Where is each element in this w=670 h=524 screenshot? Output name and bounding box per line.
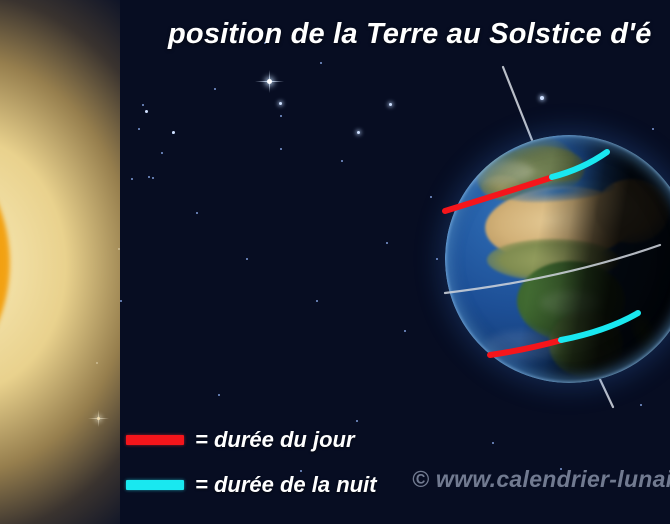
page-title: position de la Terre au Solstice d'é [168,18,670,51]
sun-halo [0,0,120,524]
bright-star-lower [96,416,101,421]
star [196,212,198,214]
star [386,242,388,244]
legend-swatch-night [126,480,184,490]
star [404,330,406,332]
star [172,131,175,134]
star [218,394,220,396]
southern-day-arc [490,340,562,355]
star [357,131,360,134]
star [279,102,282,105]
watermark-credit: © www.calendrier-lunai [412,466,670,493]
legend-item-day: = durée du jour [126,420,377,460]
bright-star [266,78,273,85]
legend-item-night: = durée de la nuit [126,465,377,505]
star [214,88,216,90]
star [96,362,98,364]
sun [0,0,120,524]
star [280,148,282,150]
legend-label-day: = durée du jour [195,427,355,453]
solar-diagram-scene: position de la Terre au Solstice d'é [0,0,670,524]
legend-label-night: = durée de la nuit [195,472,377,498]
star [145,110,148,113]
star [142,104,144,106]
star [161,152,163,154]
star [316,300,318,302]
southern-night-arc [561,313,638,340]
star [152,177,154,179]
northern-night-arc [552,152,607,177]
star [389,103,392,106]
star [320,62,322,64]
star-core [97,417,100,420]
star [280,115,282,117]
star [138,128,140,130]
star-core [267,79,272,84]
earth-overlay-lines [435,65,670,465]
star [118,248,120,250]
star [246,258,248,260]
northern-day-arc [445,177,553,211]
star [341,160,343,162]
earth [445,135,670,383]
star [120,300,122,302]
sun-core [0,98,10,428]
equator-line [445,245,660,293]
star [148,176,150,178]
legend-swatch-day [126,435,184,445]
star [131,178,133,180]
legend: = durée du jour = durée de la nuit [126,420,377,505]
